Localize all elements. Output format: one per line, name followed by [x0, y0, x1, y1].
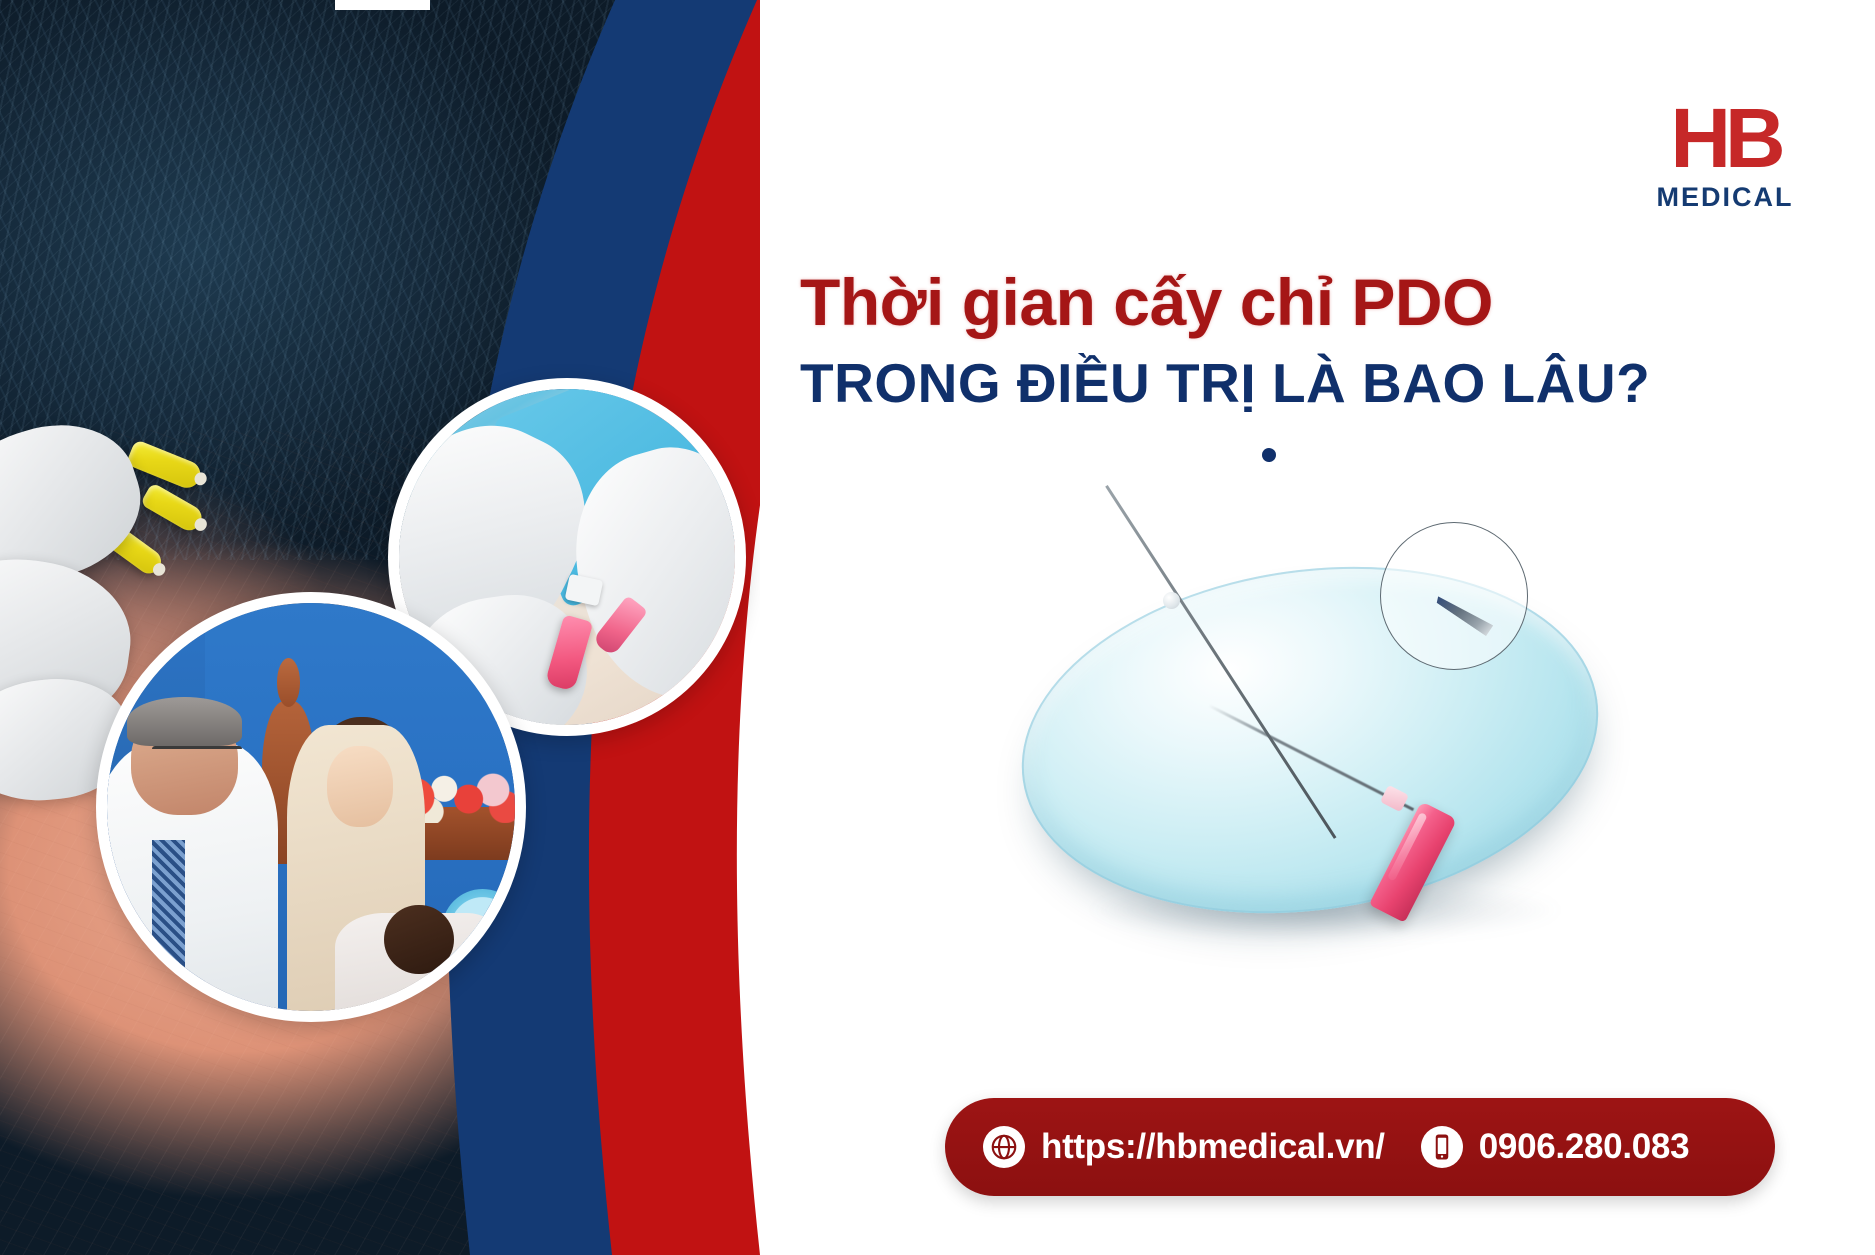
logo-subtitle-medical: MEDICAL: [1625, 182, 1825, 213]
inset-photo-clinic: [96, 592, 526, 1022]
headline-line-2: TRONG ĐIỀU TRỊ LÀ BAO LÂU?: [800, 354, 1810, 412]
needle-bead: [1163, 592, 1180, 609]
decorative-dot: [1262, 448, 1276, 462]
doctor-tie: [152, 840, 185, 1003]
doctor-glasses: [152, 746, 242, 766]
contact-phone[interactable]: 0906.280.083: [1421, 1126, 1690, 1168]
needle-tip-magnifier-circle: [1380, 522, 1528, 670]
logo-mark-hb: HB: [1625, 98, 1825, 178]
contact-website[interactable]: https://hbmedical.vn/: [983, 1126, 1385, 1168]
brand-logo: HB MEDICAL: [1625, 98, 1825, 218]
pdo-thread-product-visual: [1000, 520, 1760, 1020]
contact-bar: https://hbmedical.vn/ 0906.280.083: [945, 1098, 1775, 1196]
doctor-hair: [127, 697, 241, 746]
headline-block: Thời gian cấy chỉ PDO TRONG ĐIỀU TRỊ LÀ …: [800, 268, 1810, 412]
promo-banner: HB MEDICAL Thời gian cấy chỉ PDO TRONG Đ…: [0, 0, 1875, 1255]
patient-hair-bun: [384, 905, 453, 974]
globe-icon: [983, 1126, 1025, 1168]
left-photo-collage: [0, 0, 760, 1255]
website-url: https://hbmedical.vn/: [1041, 1127, 1385, 1167]
assistant-face: [327, 746, 392, 828]
phone-number: 0906.280.083: [1479, 1127, 1690, 1167]
headline-line-1: Thời gian cấy chỉ PDO: [800, 268, 1810, 338]
mobile-phone-icon: [1421, 1126, 1463, 1168]
needle-tip-detail: [1435, 591, 1494, 636]
